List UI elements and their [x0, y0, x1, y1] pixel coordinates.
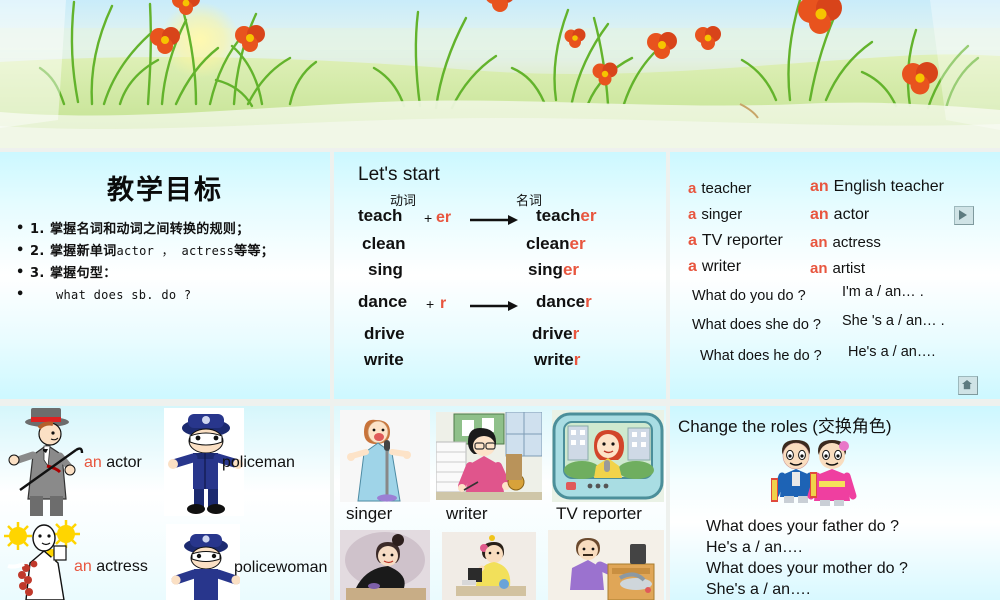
objectives-list: 1.掌握名词和动词之间转换的规则； 2.掌握新单词actor ， actress…	[0, 221, 330, 305]
tv-reporter-thumbnail[interactable]	[552, 410, 664, 502]
word-formation-panel: Let's start 动词 名词 teach + er teacher cle…	[334, 152, 666, 399]
item-number: 1.	[30, 221, 50, 240]
vocab-item: anactress	[810, 234, 881, 251]
policewoman-thumbnail[interactable]	[166, 524, 240, 600]
noun-word: writer	[534, 350, 580, 370]
actor-thumbnail[interactable]	[6, 408, 88, 518]
item-mono: what does sb. do ?	[56, 287, 191, 304]
answer-text: She 's a / an… .	[842, 313, 945, 329]
home-icon[interactable]	[958, 376, 978, 395]
driver-thumbnail[interactable]	[548, 530, 664, 600]
item-tail: 等等；	[234, 244, 274, 259]
two-children-illustration	[766, 436, 862, 513]
question-text: What does she do ?	[692, 317, 821, 333]
list-item: what does sb. do ?	[16, 287, 330, 306]
verb-word: dance	[358, 292, 407, 312]
plus-sign: +	[426, 296, 434, 312]
item-mono: actor ， actress	[117, 244, 235, 258]
verb-word: write	[364, 350, 404, 370]
noun-word: teacher	[536, 206, 597, 226]
vocab-item: asinger	[688, 206, 742, 223]
jobs-photos-panel: singer	[334, 406, 666, 600]
decorative-banner	[0, 0, 1000, 148]
vocab-item: aTV reporter	[688, 232, 783, 250]
verb-word: sing	[368, 260, 403, 280]
answer-text: He's a / an….	[848, 344, 935, 360]
answer-text: I'm a / an… .	[842, 284, 924, 300]
noun-word: cleaner	[526, 234, 586, 254]
arrow-icon	[470, 300, 514, 312]
change-roles-title: Change the roles (交换角色)	[678, 412, 892, 437]
dialog-line: He's a / an….	[706, 537, 908, 558]
list-item: 1.掌握名词和动词之间转换的规则；	[16, 221, 330, 240]
noun-word: dancer	[536, 292, 592, 312]
bottom-row: an actor	[0, 406, 1000, 600]
vocab-item: anartist	[810, 260, 865, 277]
slide: 教学目标 1.掌握名词和动词之间转换的规则； 2.掌握新单词actor ， ac…	[0, 0, 1000, 600]
banner-illustration	[0, 0, 1000, 148]
writer-thumbnail[interactable]	[436, 412, 542, 500]
vocab-item: anEnglish teacher	[810, 178, 944, 196]
suffix: er	[436, 209, 451, 227]
word-row: clean cleaner	[334, 234, 666, 262]
actor-caption: an actor	[84, 454, 142, 472]
verb-word: drive	[364, 324, 405, 344]
cleaner-thumbnail[interactable]	[442, 532, 536, 600]
list-item: 3.掌握句型：	[16, 265, 330, 284]
item-number: 3.	[30, 265, 50, 284]
suffix: r	[440, 295, 446, 313]
noun-word: driver	[532, 324, 579, 344]
vocab-item: ateacher	[688, 180, 751, 197]
noun-word: singer	[528, 260, 579, 280]
policewoman-caption: policewoman	[234, 559, 327, 577]
change-roles-panel: Change the roles (交换角色)	[670, 406, 1000, 600]
verb-word: clean	[362, 234, 405, 254]
arrow-icon	[470, 214, 514, 226]
question-text: What do you do ?	[692, 288, 806, 304]
dancer-thumbnail[interactable]	[340, 530, 430, 600]
caption-writer: writer	[446, 504, 488, 524]
panel-row: 教学目标 1.掌握名词和动词之间转换的规则； 2.掌握新单词actor ， ac…	[0, 152, 1000, 402]
verb-word: teach	[358, 206, 402, 226]
singer-thumbnail[interactable]	[340, 410, 430, 502]
lets-start-heading: Let's start	[358, 164, 440, 186]
word-row: dance + r dancer	[334, 292, 666, 320]
item-number: 2.	[30, 243, 50, 262]
word-row: drive driver	[334, 324, 666, 352]
word-row: teach + er teacher	[334, 206, 666, 234]
dialog-line: What does your mother do ?	[706, 558, 908, 579]
objectives-panel: 教学目标 1.掌握名词和动词之间转换的规则； 2.掌握新单词actor ， ac…	[0, 152, 330, 399]
play-icon[interactable]	[954, 206, 974, 225]
role-play-dialog: What does your father do ? He's a / an….…	[706, 516, 908, 600]
articles-panel: ateacher asinger aTV reporter awriter an…	[670, 152, 1000, 399]
actress-caption: an actress	[74, 558, 148, 576]
vocab-item: awriter	[688, 258, 741, 276]
jobs-people-panel: an actor	[0, 406, 330, 600]
item-text: 掌握新单词	[50, 244, 117, 259]
word-row: sing singer	[334, 260, 666, 288]
question-text: What does he do ?	[700, 348, 822, 364]
policeman-caption: policeman	[222, 454, 295, 472]
page-title: 教学目标	[0, 152, 330, 207]
plus-sign: +	[424, 210, 432, 226]
caption-tv-reporter: TV reporter	[556, 504, 642, 524]
vocab-item: anactor	[810, 206, 869, 224]
word-row: write writer	[334, 350, 666, 378]
caption-singer: singer	[346, 504, 392, 524]
item-text: 掌握名词和动词之间转换的规则；	[50, 222, 250, 237]
dialog-line: She's a / an….	[706, 579, 908, 600]
dialog-line: What does your father do ?	[706, 516, 908, 537]
item-text: 掌握句型：	[50, 266, 117, 281]
list-item: 2.掌握新单词actor ， actress等等；	[16, 243, 330, 262]
